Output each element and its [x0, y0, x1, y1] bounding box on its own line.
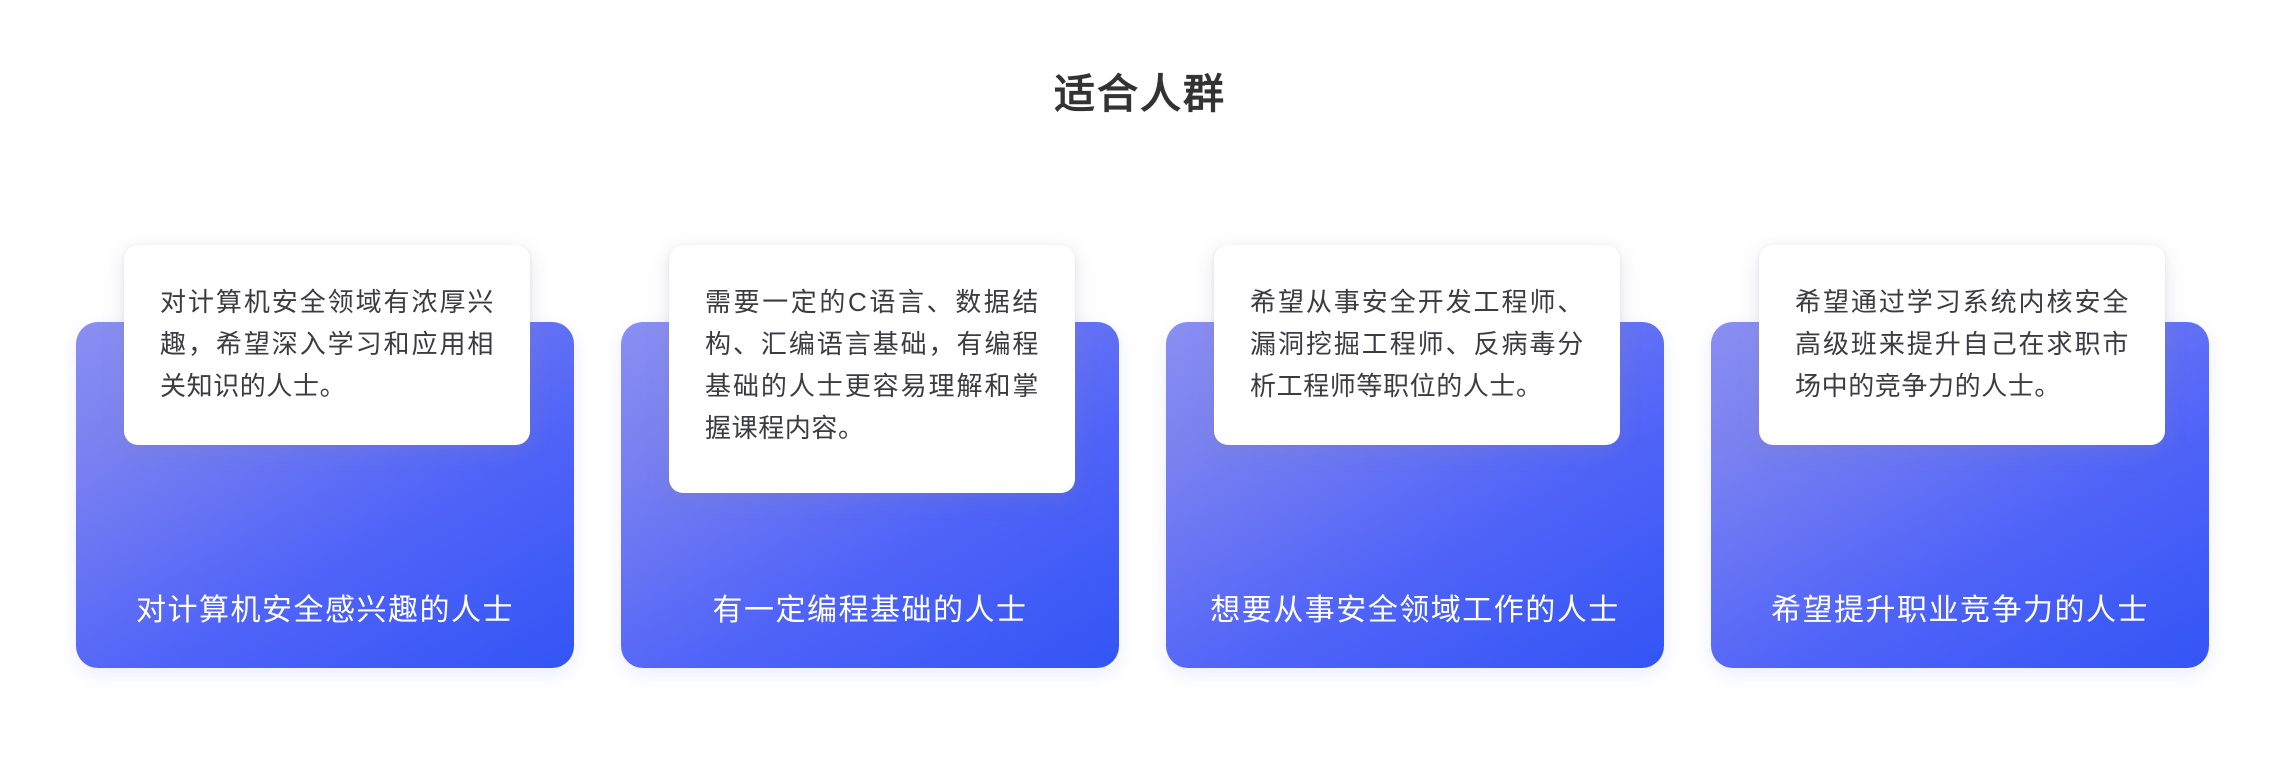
audience-item[interactable]: 有一定编程基础的人士 需要一定的C语言、数据结构、汇编语言基础，有编程基础的人士…: [621, 245, 1119, 675]
audience-description: 对计算机安全领域有浓厚兴趣，希望深入学习和应用相关知识的人士。: [160, 281, 494, 407]
audience-label: 希望提升职业竞争力的人士: [1711, 590, 2209, 632]
audience-item[interactable]: 希望提升职业竞争力的人士 希望通过学习系统内核安全高级班来提升自己在求职市场中的…: [1711, 245, 2209, 675]
audience-description: 希望从事安全开发工程师、漏洞挖掘工程师、反病毒分析工程师等职位的人士。: [1250, 281, 1584, 407]
audience-section: 适合人群 对计算机安全感兴趣的人士 对计算机安全领域有浓厚兴趣，希望深入学习和应…: [0, 0, 2280, 766]
audience-item[interactable]: 对计算机安全感兴趣的人士 对计算机安全领域有浓厚兴趣，希望深入学习和应用相关知识…: [76, 245, 574, 675]
audience-label: 想要从事安全领域工作的人士: [1166, 590, 1664, 632]
audience-card: 对计算机安全领域有浓厚兴趣，希望深入学习和应用相关知识的人士。: [124, 245, 530, 445]
page-title: 适合人群: [0, 66, 2280, 122]
audience-label: 对计算机安全感兴趣的人士: [76, 590, 574, 632]
audience-description: 希望通过学习系统内核安全高级班来提升自己在求职市场中的竞争力的人士。: [1795, 281, 2129, 407]
audience-card: 需要一定的C语言、数据结构、汇编语言基础，有编程基础的人士更容易理解和掌握课程内…: [669, 245, 1075, 493]
audience-card-row: 对计算机安全感兴趣的人士 对计算机安全领域有浓厚兴趣，希望深入学习和应用相关知识…: [76, 245, 2205, 675]
audience-label: 有一定编程基础的人士: [621, 590, 1119, 632]
audience-item[interactable]: 想要从事安全领域工作的人士 希望从事安全开发工程师、漏洞挖掘工程师、反病毒分析工…: [1166, 245, 1664, 675]
audience-card: 希望从事安全开发工程师、漏洞挖掘工程师、反病毒分析工程师等职位的人士。: [1214, 245, 1620, 445]
audience-card: 希望通过学习系统内核安全高级班来提升自己在求职市场中的竞争力的人士。: [1759, 245, 2165, 445]
audience-description: 需要一定的C语言、数据结构、汇编语言基础，有编程基础的人士更容易理解和掌握课程内…: [705, 281, 1039, 449]
